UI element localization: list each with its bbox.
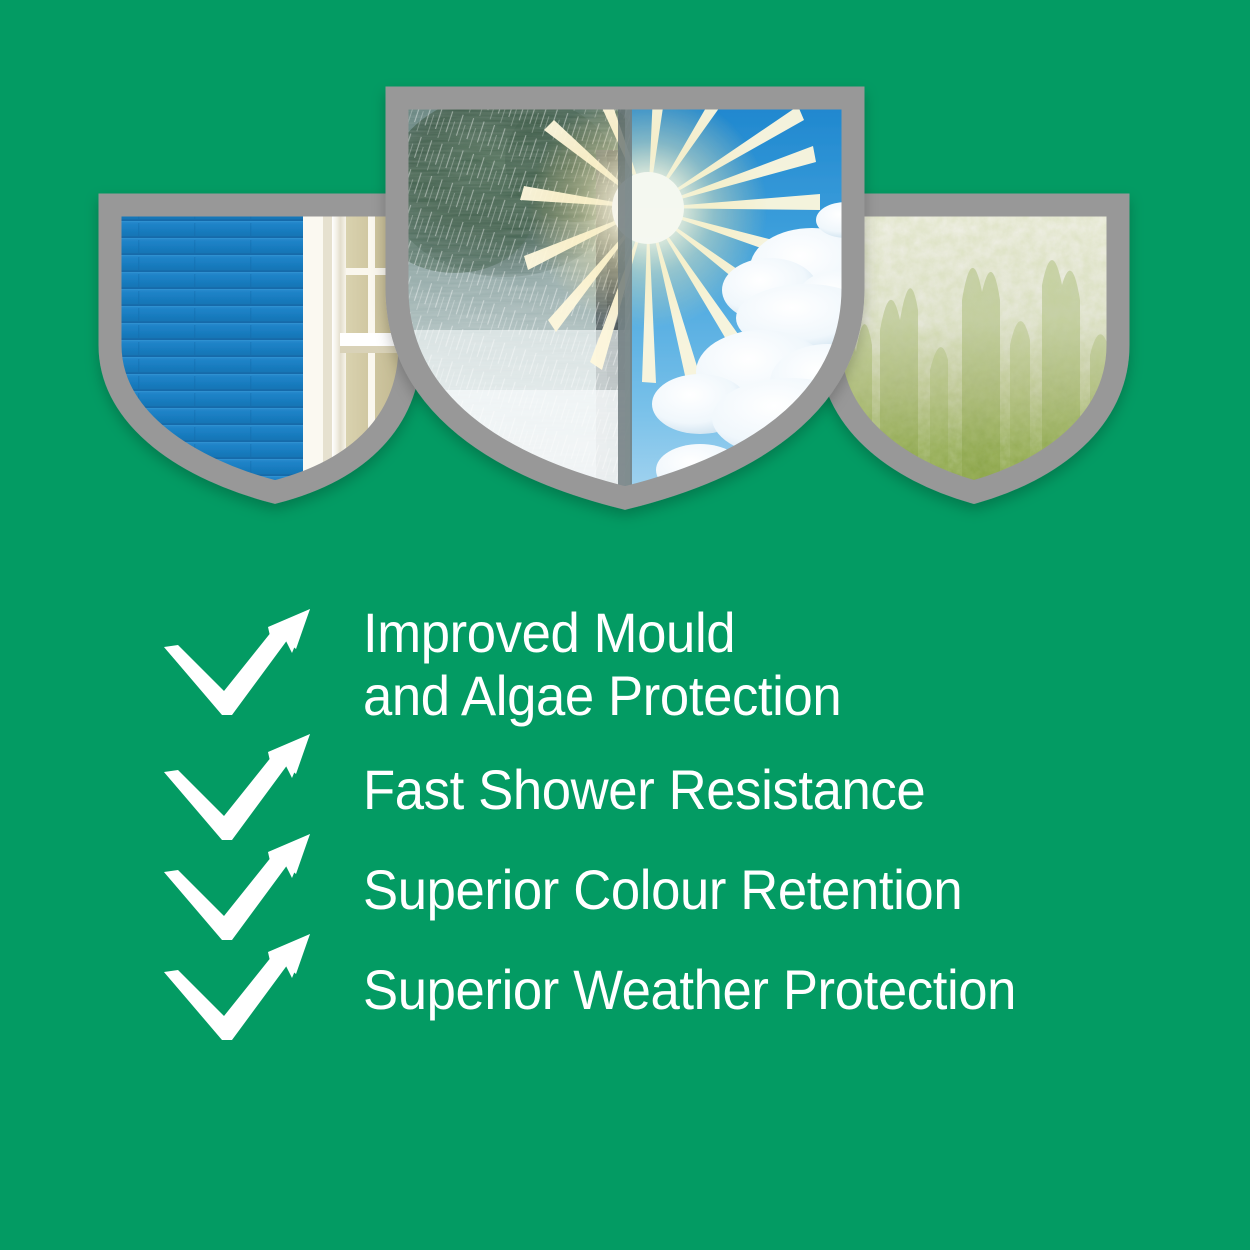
benefit-item: Improved Mould and Algae Protection: [0, 590, 1250, 740]
benefit-item: Fast Shower Resistance: [0, 740, 1250, 840]
shield-right-algae: [830, 205, 1120, 505]
benefit-label: Fast Shower Resistance: [363, 759, 925, 822]
benefit-item: Superior Weather Protection: [0, 940, 1250, 1040]
shield-left-painted-wall: [110, 205, 410, 505]
benefit-label: Superior Colour Retention: [363, 859, 962, 922]
shield-cluster: [0, 0, 1250, 530]
benefit-label: Superior Weather Protection: [363, 959, 1016, 1022]
shield-centre-weather: [377, 70, 886, 510]
check-arrow-icon: [160, 605, 325, 725]
benefit-label: Improved Mould and Algae Protection: [363, 602, 841, 727]
benefit-item: Superior Colour Retention: [0, 840, 1250, 940]
benefits-list: Improved Mould and Algae Protection Fast…: [0, 590, 1250, 1040]
check-arrow-icon: [160, 930, 325, 1050]
